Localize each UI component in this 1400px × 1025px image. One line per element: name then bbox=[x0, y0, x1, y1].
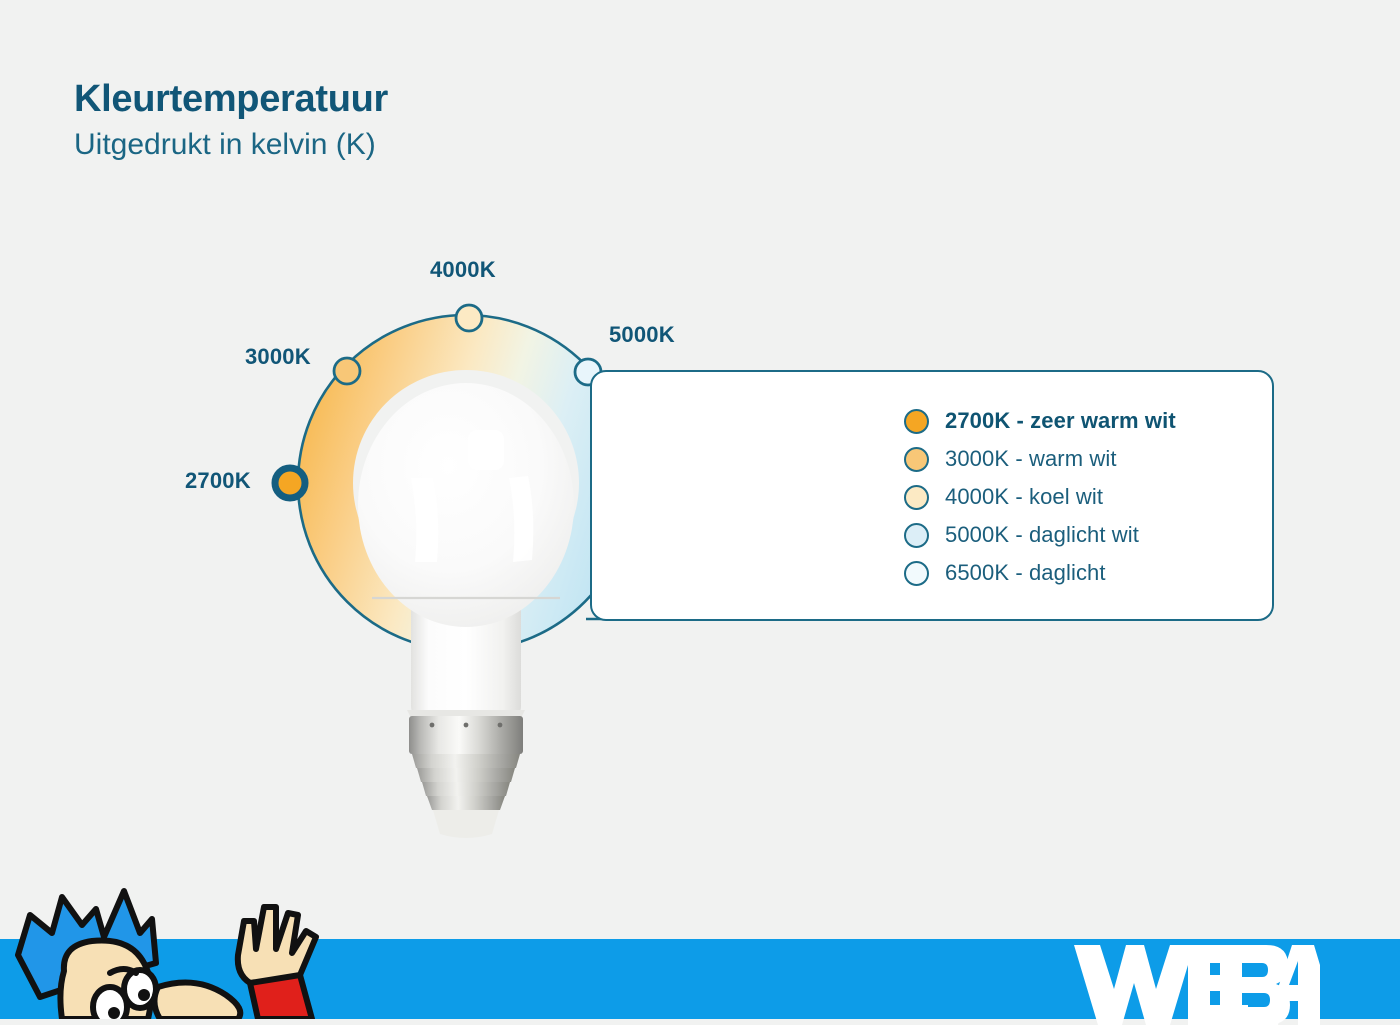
weba-logo bbox=[1070, 939, 1320, 1025]
bulb-globe bbox=[358, 383, 574, 627]
ring-label-2700k: 2700K bbox=[185, 468, 251, 494]
collar-dimple bbox=[430, 723, 435, 728]
kelvin-diagram: 2700K 3000K 4000K 5000K 6500K 2700K - ze… bbox=[0, 0, 1400, 1019]
ring-label-4000k: 4000K bbox=[430, 257, 496, 283]
bulb-screw-threads bbox=[412, 754, 520, 810]
legend-swatch-6500k bbox=[904, 561, 929, 586]
legend-item-4000k[interactable]: 4000K - koel wit bbox=[904, 481, 1176, 513]
legend-swatch-2700k bbox=[904, 409, 929, 434]
bulb-metal-collar bbox=[409, 716, 523, 754]
legend-label-6500k: 6500K - daglicht bbox=[945, 560, 1106, 586]
legend-item-6500k[interactable]: 6500K - daglicht bbox=[904, 557, 1176, 589]
ring-label-3000k: 3000K bbox=[245, 344, 311, 370]
ring-marker-3000k[interactable] bbox=[334, 358, 360, 384]
legend-list: 2700K - zeer warm wit 3000K - warm wit 4… bbox=[904, 405, 1176, 589]
ring-marker-4000k[interactable] bbox=[456, 305, 482, 331]
legend-label-5000k: 5000K - daglicht wit bbox=[945, 522, 1139, 548]
legend-swatch-5000k bbox=[904, 523, 929, 548]
mascot-pupil-right bbox=[138, 989, 150, 1001]
mascot-sleeve bbox=[250, 975, 312, 1019]
legend-item-5000k[interactable]: 5000K - daglicht wit bbox=[904, 519, 1176, 551]
collar-dimple bbox=[464, 723, 469, 728]
collar-dimple bbox=[498, 723, 503, 728]
legend-item-3000k[interactable]: 3000K - warm wit bbox=[904, 443, 1176, 475]
legend-label-3000k: 3000K - warm wit bbox=[945, 446, 1117, 472]
legend-label-2700k: 2700K - zeer warm wit bbox=[945, 408, 1176, 434]
mascot-nose bbox=[154, 983, 240, 1020]
mascot-illustration bbox=[0, 879, 360, 1019]
infographic-root: Kleurtemperatuur Uitgedrukt in kelvin (K… bbox=[0, 0, 1400, 1019]
legend-swatch-3000k bbox=[904, 447, 929, 472]
legend-item-2700k[interactable]: 2700K - zeer warm wit bbox=[904, 405, 1176, 437]
mascot-pupil-left bbox=[108, 1007, 120, 1019]
bulb-highlight-top bbox=[468, 430, 504, 470]
mascot-hand bbox=[238, 907, 316, 987]
legend-label-4000k: 4000K - koel wit bbox=[945, 484, 1103, 510]
bulb-base-tip bbox=[433, 810, 499, 838]
legend-panel: 2700K - zeer warm wit 3000K - warm wit 4… bbox=[590, 370, 1274, 621]
ring-label-5000k: 5000K bbox=[609, 322, 675, 348]
legend-swatch-4000k bbox=[904, 485, 929, 510]
ring-marker-2700k[interactable] bbox=[275, 468, 305, 498]
